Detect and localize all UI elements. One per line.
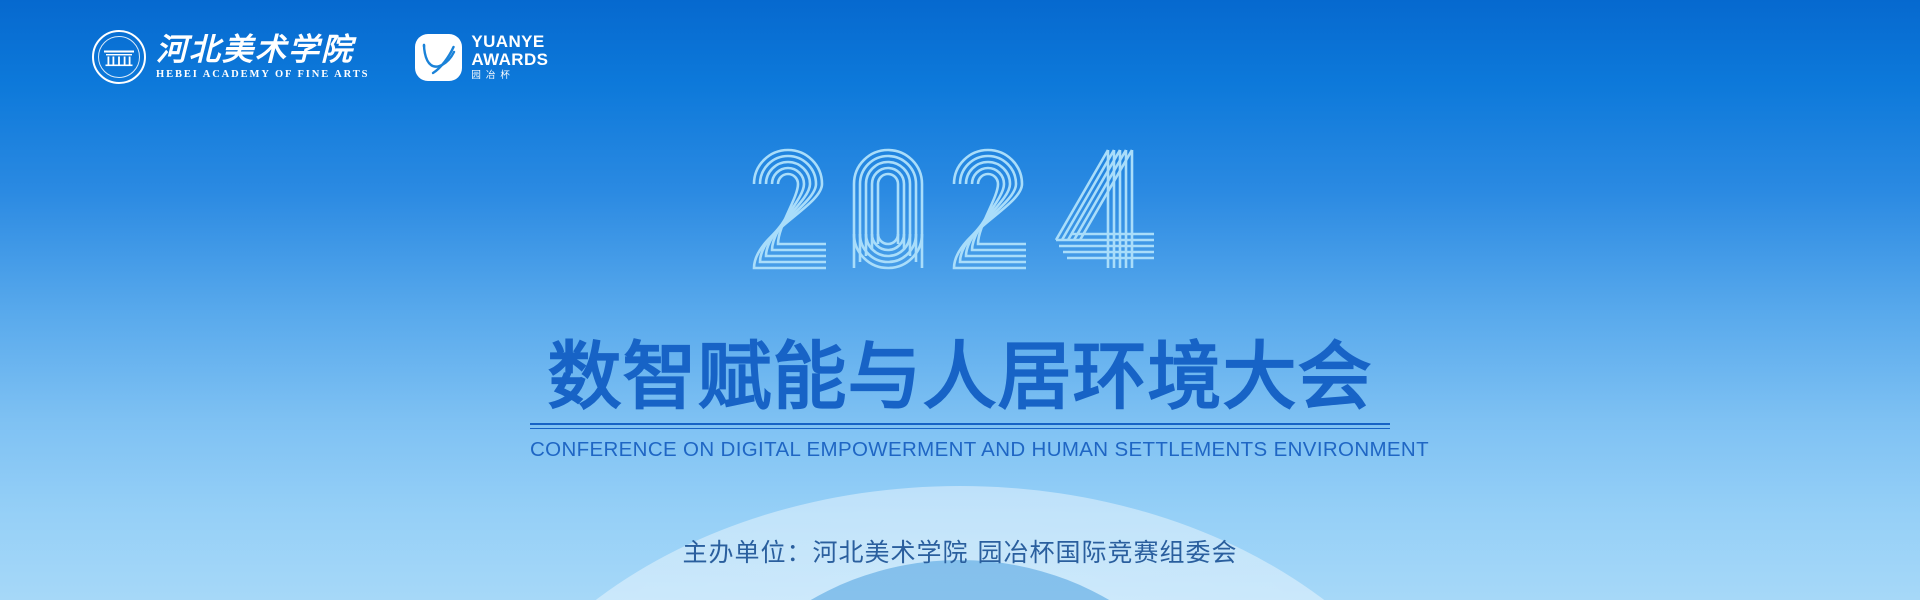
page-title: 数智赋能与人居环境大会 xyxy=(530,340,1390,415)
headline-block: 数智赋能与人居环境大会 CONFERENCE ON DIGITAL EMPOWE… xyxy=(530,340,1390,462)
yuanye-name-cn: 园冶杯 xyxy=(471,71,548,81)
year-2024-graphic xyxy=(750,136,1170,296)
page-subtitle: CONFERENCE ON DIGITAL EMPOWERMENT AND HU… xyxy=(530,438,1390,462)
logo-bar: 河北美术学院 HEBEI ACADEMY OF FINE ARTS YUANYE… xyxy=(92,30,548,84)
academy-name-cn: 河北美术学院 xyxy=(156,34,369,67)
yuanye-line2: AWARDS xyxy=(471,51,548,68)
year-2024-stripes xyxy=(750,136,1170,296)
logo-hebei-academy[interactable]: 河北美术学院 HEBEI ACADEMY OF FINE ARTS xyxy=(92,30,369,84)
yuanye-swoosh-icon xyxy=(415,34,462,81)
divider-line-top xyxy=(530,423,1390,425)
yuanye-line1: YUANYE xyxy=(471,33,548,50)
seal-gate-glyph xyxy=(104,50,134,67)
yuanye-swoosh-glyph xyxy=(415,34,462,81)
academy-seal-icon xyxy=(92,30,146,84)
conference-banner: 河北美术学院 HEBEI ACADEMY OF FINE ARTS YUANYE… xyxy=(0,0,1920,600)
academy-wordmark: 河北美术学院 HEBEI ACADEMY OF FINE ARTS xyxy=(156,34,369,80)
yuanye-wordmark: YUANYE AWARDS 园冶杯 xyxy=(471,33,548,81)
title-divider xyxy=(530,423,1390,429)
organizer-line: 主办单位：河北美术学院 园冶杯国际竞赛组委会 xyxy=(683,533,1238,569)
divider-line-bottom xyxy=(530,428,1390,429)
logo-yuanye-awards[interactable]: YUANYE AWARDS 园冶杯 xyxy=(415,33,548,81)
academy-name-en: HEBEI ACADEMY OF FINE ARTS xyxy=(156,69,369,80)
